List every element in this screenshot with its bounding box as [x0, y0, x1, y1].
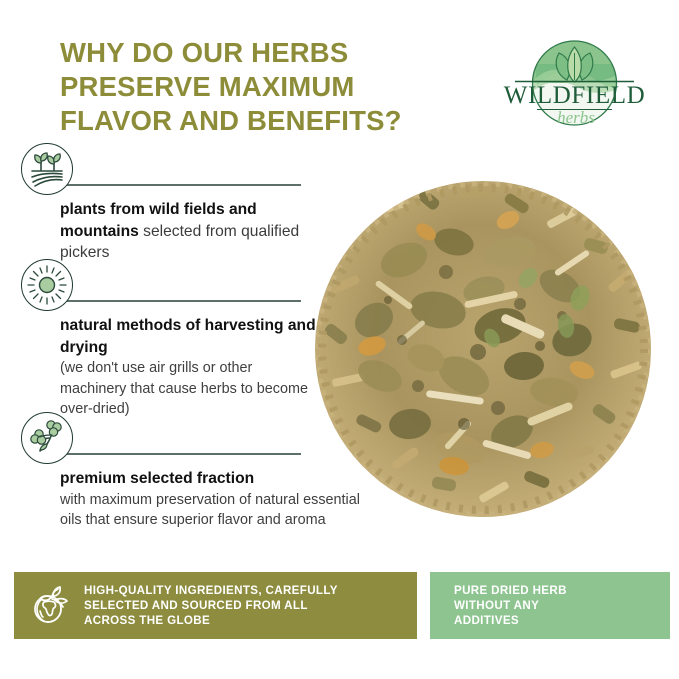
leaf-circle-logo-icon: WILDFIELD herbs	[497, 33, 652, 133]
feature-text-3: premium selected fraction with maximum p…	[60, 468, 360, 531]
feature-sub-2: (we don't use air grills or other machin…	[60, 358, 322, 420]
feature-text-2: natural methods of harvesting and drying…	[60, 315, 322, 420]
banner-right-line-2: without any	[454, 598, 567, 613]
banner-sourcing: High-quality ingredients, carefully sele…	[14, 572, 417, 639]
field-sprouts-icon	[21, 143, 73, 195]
logo-sub-text: herbs	[557, 108, 595, 127]
feature-bold-2: natural methods of harvesting and drying	[60, 317, 316, 356]
herb-pile-illustration	[314, 180, 652, 518]
banner-pure-dried-text: Pure dried herb without any additives	[454, 583, 567, 629]
feature-bold-3: premium selected fraction	[60, 470, 254, 487]
brand-logo: WILDFIELD herbs	[497, 33, 652, 133]
banner-left-line-3: across the globe	[84, 613, 338, 628]
banner-right-line-3: additives	[454, 613, 567, 628]
sun-icon	[21, 259, 73, 311]
feature-divider-1	[61, 184, 301, 186]
banner-right-line-1: Pure dried herb	[454, 583, 567, 598]
dried-herb-pile-photo	[314, 180, 652, 518]
headline-line-1: Why do our herbs	[60, 36, 480, 70]
banner-sourcing-text: High-quality ingredients, carefully sele…	[84, 583, 338, 629]
banner-left-line-2: selected and sourced from all	[84, 598, 338, 613]
feature-divider-3	[61, 453, 301, 455]
headline-line-3: flavor and benefits?	[60, 104, 480, 138]
headline-line-2: preserve maximum	[60, 70, 480, 104]
banner-left-line-1: High-quality ingredients, carefully	[84, 583, 338, 598]
logo-brand-text: WILDFIELD	[504, 82, 645, 109]
feature-text-1: plants from wild fields and mountains se…	[60, 199, 322, 264]
banner-pure-dried: Pure dried herb without any additives	[430, 572, 670, 639]
infographic-page: Why do our herbs preserve maximum flavor…	[0, 0, 679, 679]
herb-sprig-icon	[21, 412, 73, 464]
feature-divider-2	[61, 300, 301, 302]
page-title: Why do our herbs preserve maximum flavor…	[60, 36, 480, 138]
feature-sub-3: with maximum preservation of natural ess…	[60, 490, 360, 531]
globe-leaf-icon	[28, 583, 74, 629]
